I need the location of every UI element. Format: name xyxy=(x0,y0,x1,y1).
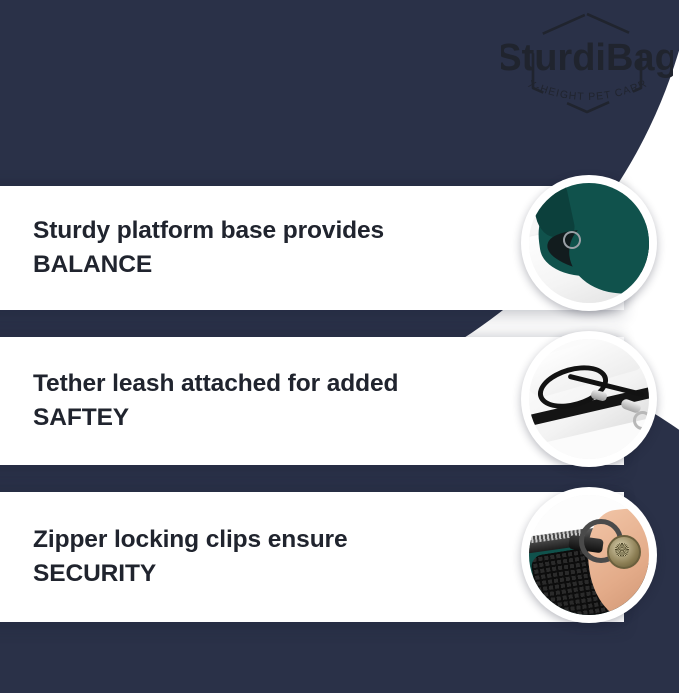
photo-clip-circle xyxy=(529,495,649,615)
product-photo-platform-base xyxy=(521,175,657,311)
logo-wordmark: SturdiBag xyxy=(501,37,673,79)
leash-ring-icon xyxy=(633,411,649,430)
feature-text-saftey: Tether leash attached for added SAFTEY xyxy=(0,367,548,435)
feature-text-security: Zipper locking clips ensure SECURITY xyxy=(0,523,498,591)
product-feature-infographic: SturdiBag FLEX-HEIGHT PET CARRIER Sturdy… xyxy=(0,0,679,693)
feature-line1: Zipper locking clips ensure xyxy=(33,526,348,553)
feature-line2: SECURITY xyxy=(33,557,348,591)
product-photo-zipper-lock xyxy=(521,487,657,623)
feature-line1: Sturdy platform base provides xyxy=(33,217,384,244)
product-photo-tether-leash xyxy=(521,331,657,467)
feature-line1: Tether leash attached for added xyxy=(33,370,398,397)
feature-text-balance: Sturdy platform base provides BALANCE xyxy=(0,214,534,282)
photo-clip-circle xyxy=(529,339,649,459)
sturdibag-logo: SturdiBag FLEX-HEIGHT PET CARRIER xyxy=(501,8,673,120)
feature-line2: BALANCE xyxy=(33,248,384,282)
lock-dial-icon xyxy=(615,543,629,557)
photo-clip-circle xyxy=(529,183,649,303)
feature-line2: SAFTEY xyxy=(33,401,398,435)
